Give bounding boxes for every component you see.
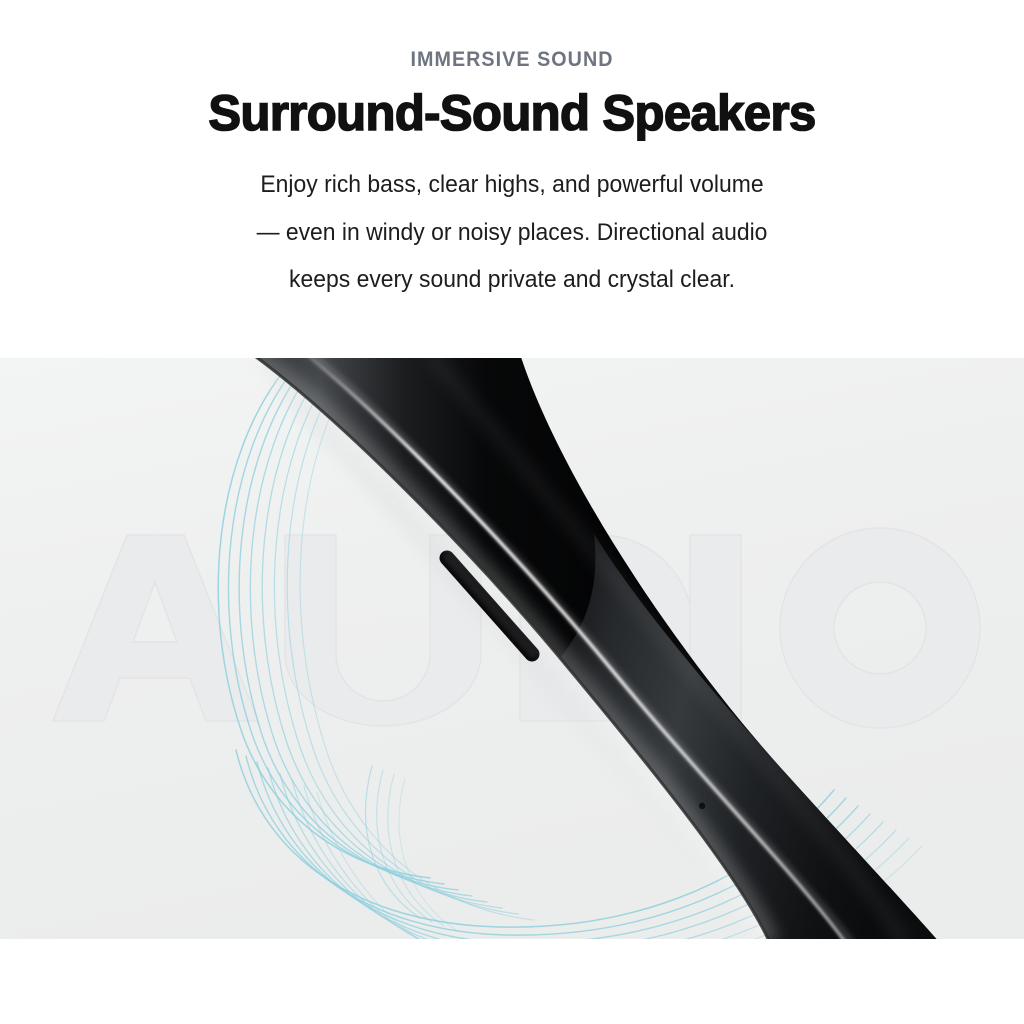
body-copy: Enjoy rich bass, clear highs, and powerf… [197, 161, 827, 304]
footer-band [0, 939, 1024, 1024]
page-title: Surround-Sound Speakers [108, 85, 916, 141]
hero-illustration [0, 358, 1024, 939]
microphone-pinhole [699, 803, 705, 809]
body-copy-line: keeps every sound private and crystal cl… [289, 266, 735, 293]
body-copy-line: — even in windy or noisy places. Directi… [257, 219, 768, 246]
feature-promo-card: IMMERSIVE SOUND Surround-Sound Speakers … [0, 0, 1024, 1024]
hero-photo [0, 358, 1024, 939]
eyebrow-label: IMMERSIVE SOUND [125, 48, 900, 71]
copy-block: IMMERSIVE SOUND Surround-Sound Speakers … [0, 0, 1024, 358]
body-copy-line: Enjoy rich bass, clear highs, and powerf… [260, 171, 763, 198]
